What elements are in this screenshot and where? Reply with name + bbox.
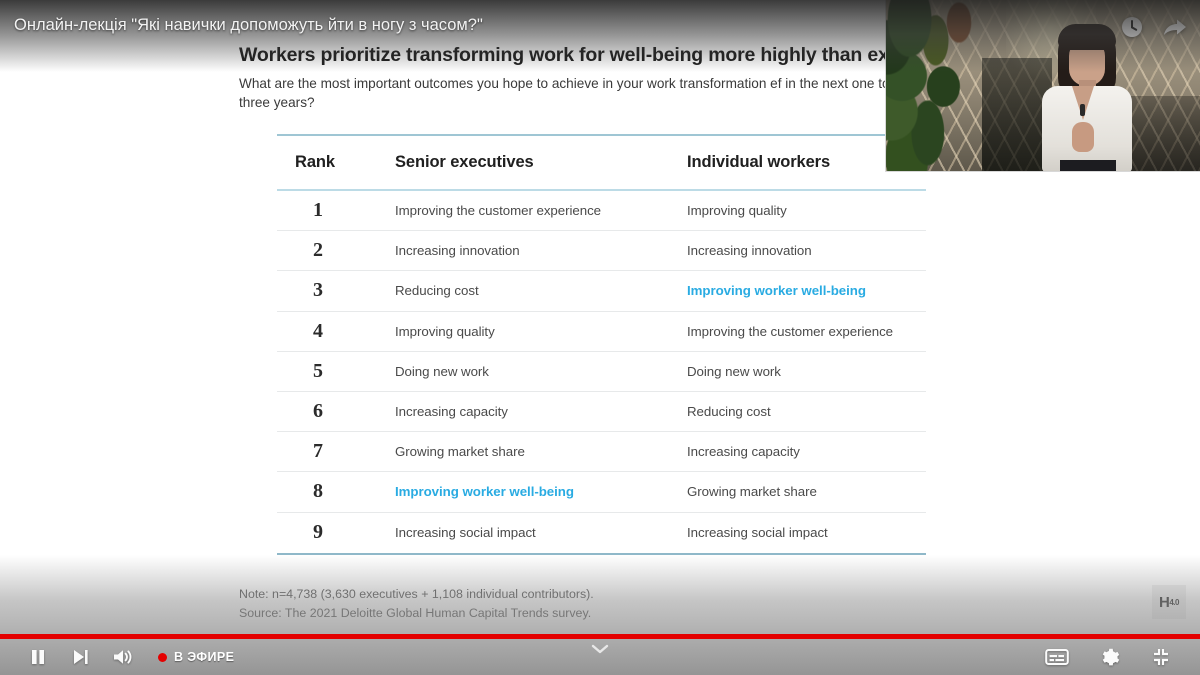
video-player: Workers prioritize transforming work for… bbox=[0, 0, 1200, 675]
senior-executives-cell: Increasing innovation bbox=[395, 243, 687, 258]
controls-right-group bbox=[1045, 647, 1200, 668]
individual-workers-cell: Doing new work bbox=[687, 364, 926, 379]
individual-workers-cell: Increasing innovation bbox=[687, 243, 926, 258]
individual-workers-cell: Reducing cost bbox=[687, 404, 926, 419]
slide-header: Workers prioritize transforming work for… bbox=[239, 44, 939, 112]
table-row: 8Improving worker well-beingGrowing mark… bbox=[277, 472, 926, 512]
individual-workers-cell: Improving quality bbox=[687, 203, 926, 218]
individual-workers-cell: Increasing social impact bbox=[687, 525, 926, 540]
table-row: 2Increasing innovationIncreasing innovat… bbox=[277, 231, 926, 271]
slide-notes: Note: n=4,738 (3,630 executives + 1,108 … bbox=[239, 585, 594, 622]
presenter bbox=[1036, 24, 1136, 172]
subtitles-icon bbox=[1045, 648, 1069, 666]
badge-subscript: 4.0 bbox=[1169, 598, 1179, 607]
video-title[interactable]: Онлайн-лекція "Які навички допоможуть йт… bbox=[14, 16, 483, 35]
exit-fullscreen-icon bbox=[1150, 647, 1172, 667]
volume-icon bbox=[112, 647, 134, 667]
senior-executives-cell: Improving quality bbox=[395, 324, 687, 339]
senior-executives-cell: Improving worker well-being bbox=[395, 484, 687, 499]
table-row: 5Doing new workDoing new work bbox=[277, 352, 926, 392]
rank-cell: 6 bbox=[277, 400, 395, 423]
presenter-hand bbox=[1072, 122, 1094, 152]
h40-logo-badge: H4.0 bbox=[1152, 585, 1186, 619]
gear-icon bbox=[1099, 647, 1120, 668]
table-header-row: Rank Senior executives Individual worker… bbox=[277, 136, 926, 191]
column-header-rank: Rank bbox=[277, 153, 395, 172]
rank-cell: 1 bbox=[277, 199, 395, 222]
source-line: Source: The 2021 Deloitte Global Human C… bbox=[239, 604, 594, 623]
rank-cell: 2 bbox=[277, 239, 395, 262]
rank-cell: 3 bbox=[277, 279, 395, 302]
senior-executives-cell: Reducing cost bbox=[395, 283, 687, 298]
presenter-fringe bbox=[1058, 24, 1116, 50]
individual-workers-cell: Improving the customer experience bbox=[687, 324, 926, 339]
settings-button[interactable] bbox=[1099, 647, 1120, 668]
volume-button[interactable] bbox=[112, 647, 134, 667]
slide-subtitle: What are the most important outcomes you… bbox=[239, 74, 911, 112]
exit-fullscreen-button[interactable] bbox=[1150, 647, 1172, 667]
subtitles-button[interactable] bbox=[1045, 648, 1069, 666]
share-icon[interactable] bbox=[1162, 15, 1188, 44]
rank-cell: 7 bbox=[277, 440, 395, 463]
senior-executives-cell: Improving the customer experience bbox=[395, 203, 687, 218]
slide-title: Workers prioritize transforming work for… bbox=[239, 44, 939, 67]
presenter-lap bbox=[1060, 160, 1116, 172]
senior-executives-cell: Increasing capacity bbox=[395, 404, 687, 419]
table-row: 7Growing market shareIncreasing capacity bbox=[277, 432, 926, 472]
live-label: В ЭФИРЕ bbox=[174, 650, 234, 664]
next-video-icon bbox=[70, 647, 90, 667]
senior-executives-cell: Growing market share bbox=[395, 444, 687, 459]
rank-cell: 4 bbox=[277, 320, 395, 343]
rank-cell: 8 bbox=[277, 480, 395, 503]
rank-cell: 5 bbox=[277, 360, 395, 383]
senior-executives-cell: Increasing social impact bbox=[395, 525, 687, 540]
pause-button[interactable] bbox=[28, 647, 48, 667]
table-row: 1Improving the customer experienceImprov… bbox=[277, 191, 926, 231]
note-line: Note: n=4,738 (3,630 executives + 1,108 … bbox=[239, 585, 594, 604]
table-row: 3Reducing costImproving worker well-bein… bbox=[277, 271, 926, 311]
badge-letter: H bbox=[1159, 594, 1169, 611]
ranking-table: Rank Senior executives Individual worker… bbox=[277, 134, 926, 555]
pause-icon bbox=[28, 647, 48, 667]
live-badge[interactable]: В ЭФИРЕ bbox=[158, 650, 234, 664]
clock-icon[interactable] bbox=[1120, 15, 1144, 44]
table-row: 6Increasing capacityReducing cost bbox=[277, 392, 926, 432]
live-indicator-dot bbox=[158, 653, 167, 662]
next-video-button[interactable] bbox=[70, 647, 90, 667]
presenter-webcam-overlay bbox=[885, 0, 1200, 172]
table-row: 4Improving qualityImproving the customer… bbox=[277, 312, 926, 352]
rank-cell: 9 bbox=[277, 521, 395, 544]
lapel-microphone bbox=[1080, 104, 1085, 116]
individual-workers-cell: Improving worker well-being bbox=[687, 283, 926, 298]
houseplant bbox=[885, 0, 998, 172]
table-row: 9Increasing social impactIncreasing soci… bbox=[277, 513, 926, 553]
controls-left-group: В ЭФИРЕ bbox=[0, 647, 234, 667]
individual-workers-cell: Increasing capacity bbox=[687, 444, 926, 459]
player-control-bar: В ЭФИРЕ bbox=[0, 639, 1200, 675]
column-header-senior-executives: Senior executives bbox=[395, 153, 687, 172]
senior-executives-cell: Doing new work bbox=[395, 364, 687, 379]
individual-workers-cell: Growing market share bbox=[687, 484, 926, 499]
